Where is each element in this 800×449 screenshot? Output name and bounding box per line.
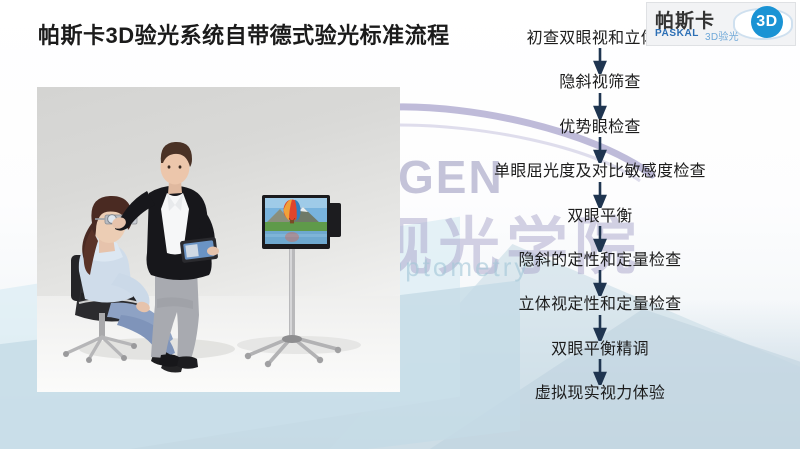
- flow-step-9: 虚拟现实视力体验: [535, 385, 665, 403]
- flow-arrow-7-icon: [593, 315, 607, 341]
- flow-arrow-5-icon: [593, 226, 607, 252]
- logo-name-en-suffix: 3D验光: [705, 28, 739, 43]
- photo-illustration: [37, 87, 400, 392]
- flow-arrow-1-icon: [593, 48, 607, 74]
- standing-optometrist: [111, 142, 219, 369]
- flow-step-3: 优势眼检查: [559, 119, 641, 137]
- logo-3d-badge: 3D: [751, 6, 783, 38]
- demo-photo: [37, 87, 400, 392]
- flow-step-2: 隐斜视筛查: [559, 74, 641, 92]
- flow-step-4: 单眼屈光度及对比敏感度检查: [494, 163, 706, 181]
- flow-step-8: 双眼平衡精调: [551, 341, 649, 359]
- slide-canvas: GEN 视光学院 Optometry 帕斯卡3D验光系统自带德式验光标准流程 帕…: [0, 0, 800, 449]
- flow-step-7: 立体视定性和定量检查: [518, 296, 681, 314]
- flow-arrow-6-icon: [593, 270, 607, 296]
- examination-flowchart: 初查双眼视和立体视 隐斜视筛查 优势眼检查 单眼屈光度及对比敏感度检查 双眼平衡…: [420, 30, 780, 404]
- brand-logo[interactable]: 帕斯卡 PASKAL 3D验光 3D: [646, 2, 796, 46]
- flow-step-6: 隐斜的定性和定量检查: [518, 252, 681, 270]
- flow-arrow-4-icon: [593, 182, 607, 208]
- page-title: 帕斯卡3D验光系统自带德式验光标准流程: [38, 18, 450, 50]
- flow-step-5: 双眼平衡: [567, 208, 632, 226]
- logo-name-en: PASKAL: [655, 28, 699, 39]
- flow-arrow-8-icon: [593, 359, 607, 385]
- flow-arrow-2-icon: [593, 93, 607, 119]
- flow-arrow-3-icon: [593, 137, 607, 163]
